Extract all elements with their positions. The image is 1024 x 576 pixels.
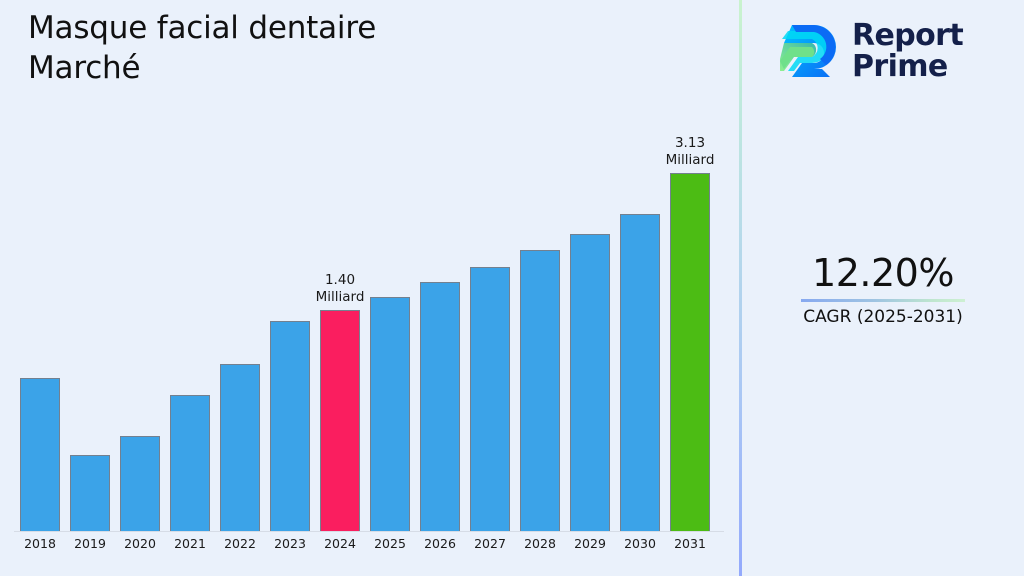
x-tick-2028: 2028: [515, 533, 565, 555]
x-tick-2020: 2020: [115, 533, 165, 555]
bar-rect-2024: [320, 310, 360, 531]
x-axis-line: [14, 531, 724, 532]
cagr-divider-rule: [801, 299, 965, 302]
brand-panel: Report Prime 12.20% CAGR (2025-2031): [742, 0, 1024, 576]
x-tick-2030: 2030: [615, 533, 665, 555]
bar-2031: 3.13 Milliard: [670, 173, 710, 531]
bar-2020: [120, 436, 160, 531]
x-tick-2024: 2024: [315, 533, 365, 555]
bar-rect-2020: [120, 436, 160, 531]
bar-rect-2023: [270, 321, 310, 531]
bar-rect-2019: [70, 455, 110, 531]
bar-rect-2029: [570, 234, 610, 531]
x-tick-2031: 2031: [665, 533, 715, 555]
bar-2029: [570, 234, 610, 531]
x-axis-tick-labels: 2018201920202021202220232024202520262027…: [0, 533, 739, 563]
chart-infographic: Masque facial dentaire Marché 1.40 Milli…: [0, 0, 1024, 576]
bar-rect-2027: [470, 267, 510, 531]
x-tick-2025: 2025: [365, 533, 415, 555]
cagr-value: 12.20%: [742, 250, 1024, 296]
bar-rect-2031: [670, 173, 710, 531]
bar-2025: [370, 297, 410, 531]
bar-rect-2021: [170, 395, 210, 531]
bar-2018: [20, 378, 60, 531]
x-tick-2027: 2027: [465, 533, 515, 555]
bar-2022: [220, 364, 260, 531]
bar-2021: [170, 395, 210, 531]
x-tick-2019: 2019: [65, 533, 115, 555]
bar-2019: [70, 455, 110, 531]
bar-rect-2018: [20, 378, 60, 531]
bar-2023: [270, 321, 310, 531]
x-tick-2029: 2029: [565, 533, 615, 555]
bar-series: 1.40 Milliard3.13 Milliard: [0, 100, 739, 531]
bar-2024: 1.40 Milliard: [320, 310, 360, 531]
x-tick-2021: 2021: [165, 533, 215, 555]
x-tick-2018: 2018: [15, 533, 65, 555]
bar-chart-plot: 1.40 Milliard3.13 Milliard: [0, 100, 739, 532]
brand-name: Report Prime: [852, 20, 963, 82]
bar-rect-2030: [620, 214, 660, 531]
bar-2026: [420, 282, 460, 531]
cagr-caption: CAGR (2025-2031): [742, 304, 1024, 330]
brand-logo: Report Prime: [778, 12, 1008, 90]
x-tick-2022: 2022: [215, 533, 265, 555]
report-prime-logo-icon: [778, 19, 842, 83]
bar-rect-2028: [520, 250, 560, 531]
x-tick-2023: 2023: [265, 533, 315, 555]
bar-rect-2025: [370, 297, 410, 531]
bar-value-label-2031: 3.13 Milliard: [645, 135, 735, 169]
bar-2028: [520, 250, 560, 531]
x-tick-2026: 2026: [415, 533, 465, 555]
bar-rect-2026: [420, 282, 460, 531]
bar-rect-2022: [220, 364, 260, 531]
cagr-block: 12.20% CAGR (2025-2031): [742, 250, 1024, 330]
bar-2030: [620, 214, 660, 531]
bar-2027: [470, 267, 510, 531]
page-title: Masque facial dentaire Marché: [28, 8, 458, 88]
chart-panel: Masque facial dentaire Marché 1.40 Milli…: [0, 0, 739, 576]
